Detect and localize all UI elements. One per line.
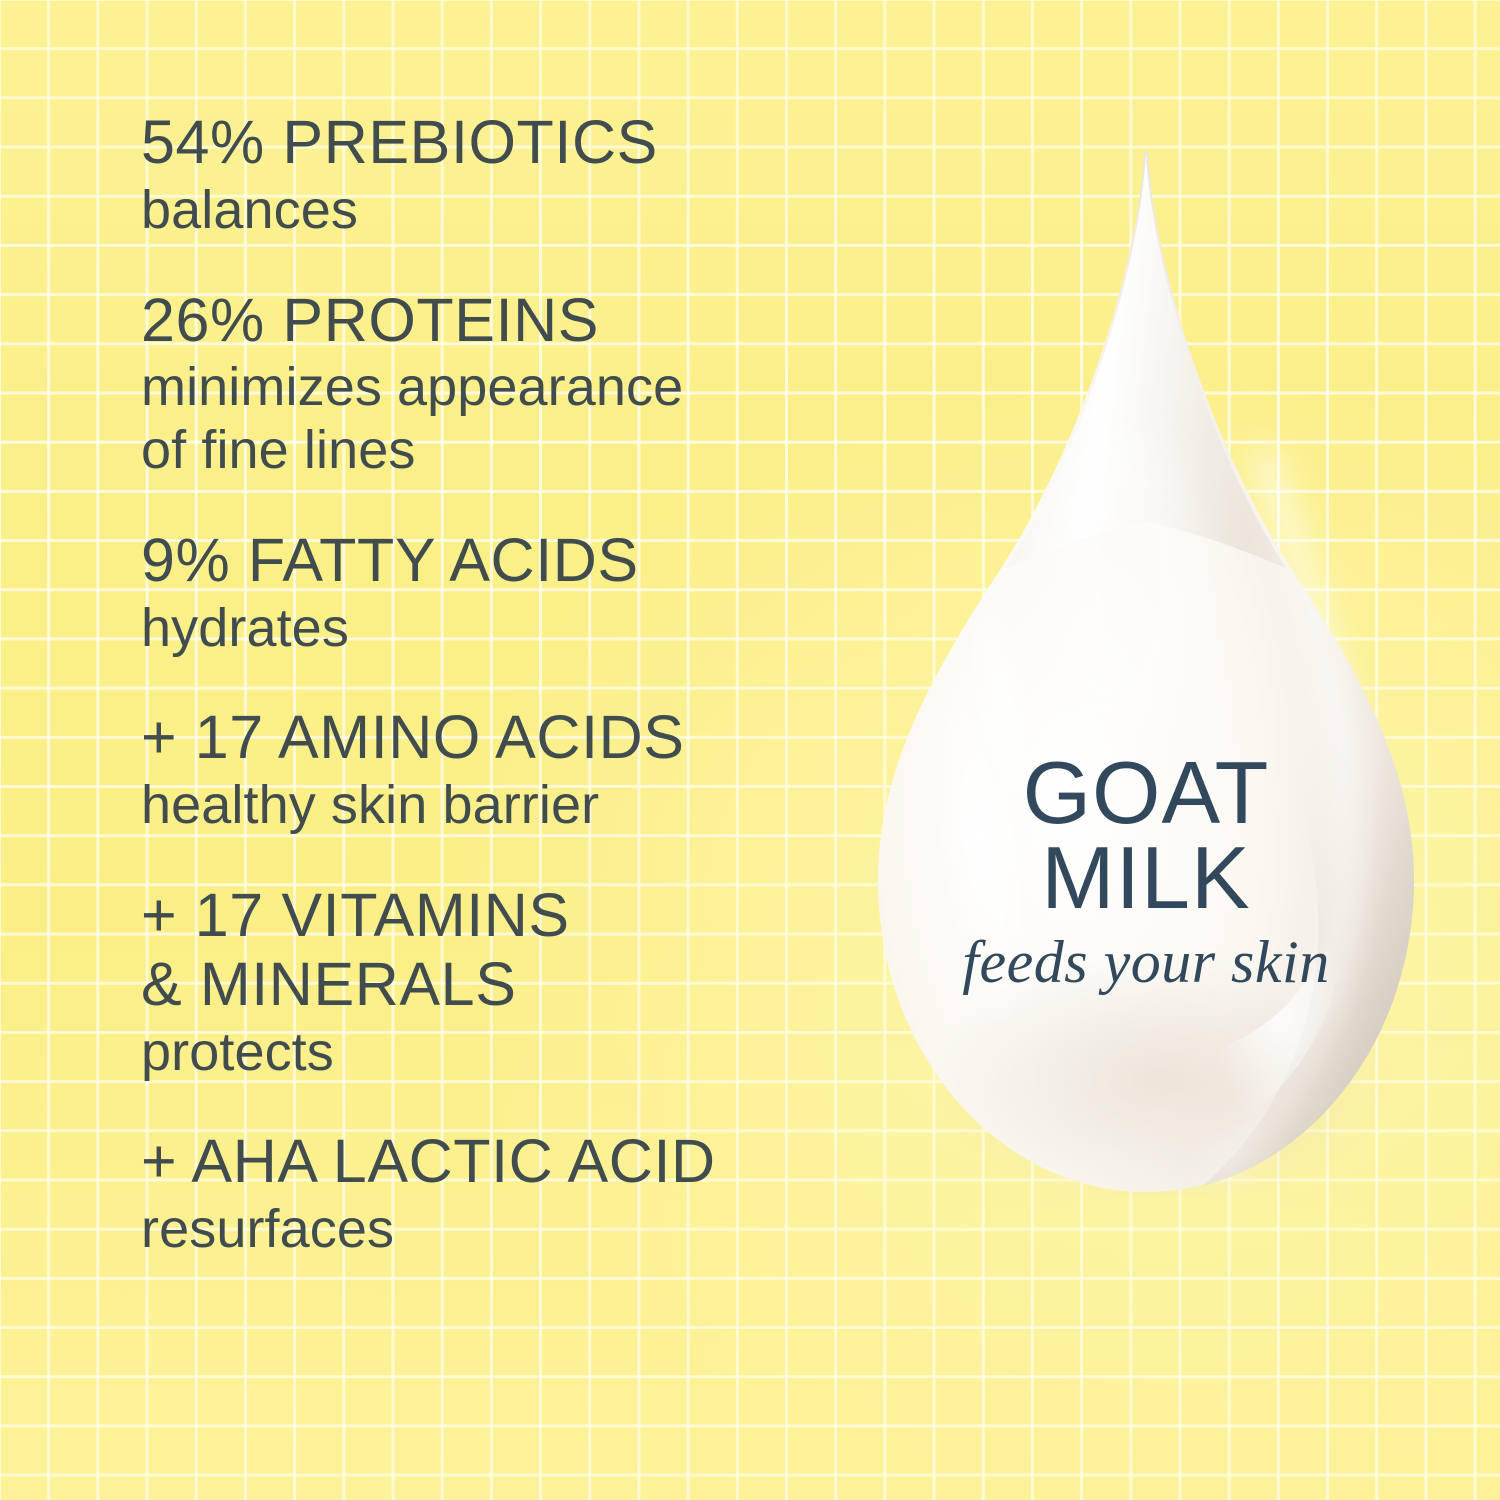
ingredient-benefit: minimizes appearance of fine lines (141, 356, 841, 481)
ingredient-item-aha-lactic-acid: + AHA LACTIC ACID resurfaces (141, 1127, 841, 1261)
ingredient-headline: 54% PREBIOTICS (141, 108, 841, 177)
ingredient-item-fatty-acids: 9% FATTY ACIDS hydrates (141, 526, 841, 660)
ingredient-item-amino-acids: + 17 AMINO ACIDS healthy skin barrier (141, 703, 841, 837)
ingredient-headline: + 17 AMINO ACIDS (141, 703, 841, 772)
ingredient-headline: + 17 VITAMINS & MINERALS (141, 881, 841, 1019)
milk-drop-icon (862, 150, 1430, 1196)
drop-center-sheen (1060, 430, 1200, 730)
milk-drop-illustration: GOAT MILK feeds your skin (862, 150, 1430, 1196)
ingredient-benefit: hydrates (141, 597, 841, 660)
ingredient-benefit: balances (141, 179, 841, 242)
ingredient-headline: + AHA LACTIC ACID (141, 1127, 841, 1196)
ingredient-item-vitamins-minerals: + 17 VITAMINS & MINERALS protects (141, 881, 841, 1083)
ingredient-benefit: protects (141, 1021, 841, 1084)
ingredient-headline: 9% FATTY ACIDS (141, 526, 841, 595)
ingredient-headline: 26% PROTEINS (141, 286, 841, 355)
ingredient-benefit: resurfaces (141, 1198, 841, 1261)
infographic-canvas: 54% PREBIOTICS balances 26% PROTEINS min… (0, 0, 1500, 1500)
ingredient-item-proteins: 26% PROTEINS minimizes appearance of fin… (141, 286, 841, 482)
ingredient-benefit: healthy skin barrier (141, 774, 841, 837)
ingredient-list: 54% PREBIOTICS balances 26% PROTEINS min… (141, 108, 841, 1261)
ingredient-item-prebiotics: 54% PREBIOTICS balances (141, 108, 841, 242)
